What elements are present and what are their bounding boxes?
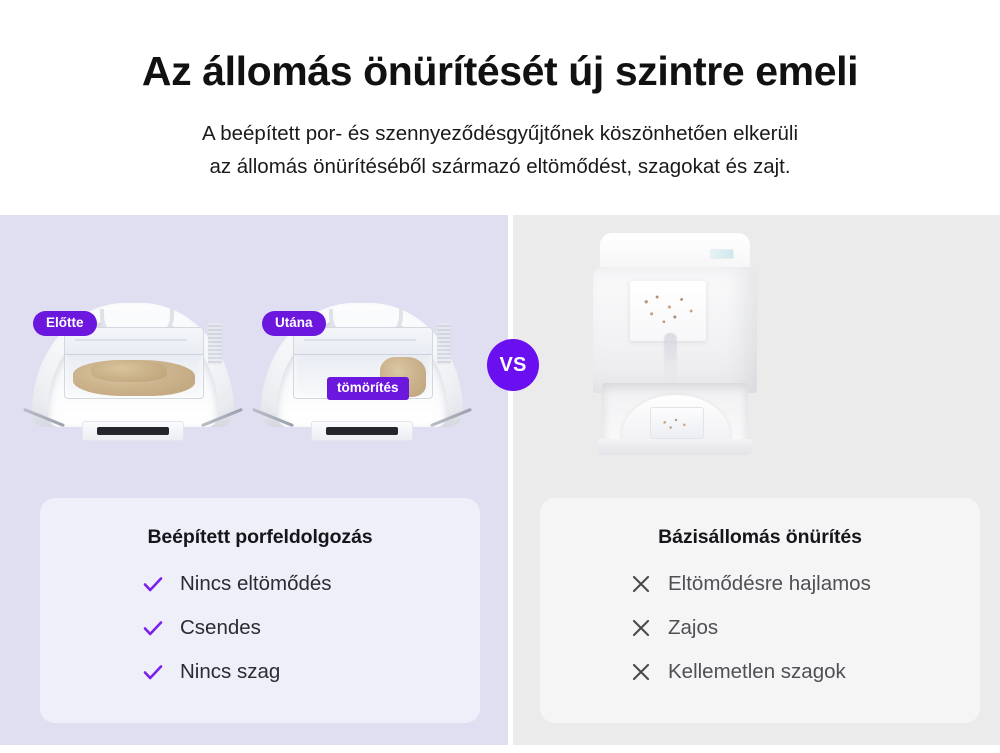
feature-label: Nincs eltömődés — [180, 574, 332, 595]
robot-image-before: Előtte — [18, 297, 248, 445]
badge-before: Előtte — [33, 311, 97, 336]
subtitle-line-2: az állomás önürítéséből származó eltömőd… — [70, 150, 930, 183]
subtitle-line-1: A beépített por- és szennyeződésgyűjtőne… — [70, 117, 930, 150]
check-icon — [140, 571, 166, 597]
feature-list-right: Eltömődésre hajlamos Zajos Kellemetlen s… — [540, 571, 980, 685]
page-header: Az állomás önürítését új szintre emeli A… — [0, 0, 1000, 215]
left-comparison-panel: Előtte Utána tömörítés VS — [0, 215, 508, 745]
dock-base-plate — [598, 439, 752, 455]
page-subtitle: A beépített por- és szennyeződésgyűjtőne… — [70, 117, 930, 183]
dock-station-image — [588, 233, 763, 463]
card-title-left: Beépített porfeldolgozás — [40, 526, 480, 549]
list-item: Kellemetlen szagok — [540, 659, 980, 685]
robot-vent — [82, 421, 184, 441]
dock-indicator-icon — [710, 249, 734, 259]
card-base-station-self-empty: Bázisállomás önürítés Eltömődésre hajlam… — [540, 498, 980, 723]
dock-alcove — [602, 383, 748, 445]
feature-label: Eltömődésre hajlamos — [668, 574, 871, 595]
list-item: Zajos — [540, 615, 980, 641]
badge-compaction: tömörítés — [327, 377, 409, 400]
debris-pile — [91, 360, 167, 382]
list-item: Csendes — [40, 615, 480, 641]
list-item: Eltömődésre hajlamos — [540, 571, 980, 597]
cross-icon — [628, 615, 654, 641]
card-built-in-dust-processing: Beépített porfeldolgozás Nincs eltömődés… — [40, 498, 480, 723]
docked-robot — [622, 395, 730, 441]
right-comparison-panel: Bázisállomás önürítés Eltömődésre hajlam… — [513, 215, 1000, 745]
robot-grille — [437, 323, 451, 365]
footer-strip — [0, 745, 1000, 753]
dock-lid — [600, 233, 750, 269]
feature-label: Kellemetlen szagok — [668, 662, 846, 683]
badge-after: Utána — [262, 311, 326, 336]
list-item: Nincs eltömődés — [40, 571, 480, 597]
docked-robot-dustbin — [650, 407, 704, 439]
card-title-right: Bázisállomás önürítés — [540, 526, 980, 549]
feature-label: Nincs szag — [180, 662, 280, 683]
vs-badge: VS — [487, 339, 539, 391]
check-icon — [140, 615, 166, 641]
list-item: Nincs szag — [40, 659, 480, 685]
dust-bag — [630, 281, 706, 341]
comparison-panels: Előtte Utána tömörítés VS — [0, 215, 1000, 745]
feature-label: Zajos — [668, 618, 718, 639]
robot-vent — [311, 421, 413, 441]
check-icon — [140, 659, 166, 685]
dustbin-before — [64, 327, 204, 399]
robot-grille — [208, 323, 222, 365]
robot-image-after: Utána tömörítés — [247, 297, 477, 445]
cross-icon — [628, 659, 654, 685]
feature-label: Csendes — [180, 618, 261, 639]
cross-icon — [628, 571, 654, 597]
page-title: Az állomás önürítését új szintre emeli — [0, 48, 1000, 95]
feature-list-left: Nincs eltömődés Csendes Nincs szag — [40, 571, 480, 685]
robot-dustbin-images: Előtte Utána tömörítés — [0, 297, 508, 447]
